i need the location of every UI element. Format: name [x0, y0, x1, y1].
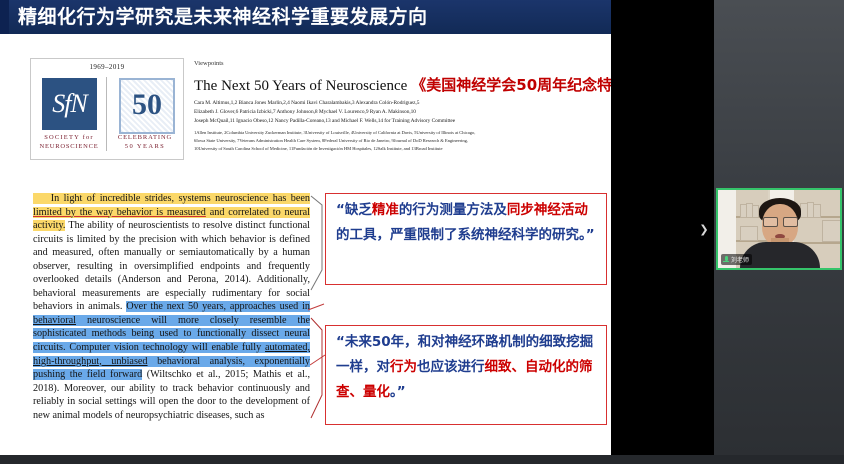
sfn-celebrating-line-1: CELEBRATING — [115, 134, 175, 141]
quote-accent-text: 行为 — [390, 359, 417, 375]
highlight-yellow-1: In light of incredible strides, systems … — [33, 193, 310, 231]
slide-title-bar: 精细化行为学研究是未来神经科学重要发展方向 — [0, 0, 611, 34]
quote-accent-text: 同步神经活动 — [507, 202, 588, 218]
article-title-row: The Next 50 Years of Neuroscience《美国神经学会… — [194, 74, 611, 95]
author-line-1: Cara M. Altimus,1,2 Bianca Jones Marlin,… — [194, 100, 419, 106]
quote-text: 的行为测量方法及 — [399, 202, 507, 218]
journal-header: 1969–2019 SfN SOCIETY for NEUROSCIENCE 5… — [30, 58, 600, 160]
article-body-paragraph: In light of incredible strides, systems … — [33, 192, 310, 422]
callout-quote-2: “未来50年，和对神经环路机制的细致挖掘一样，对行为也应该进行细致、自动化的筛查… — [325, 325, 607, 425]
book — [813, 204, 821, 218]
affiliation-line-2: 6Iowa State University, 7Veterans Admini… — [194, 138, 468, 143]
participant-name: 刘老师 — [731, 255, 749, 264]
sfn-society-line-1: SOCIETY for — [37, 134, 101, 141]
slide-title: 精细化行为学研究是未来神经科学重要发展方向 — [18, 3, 428, 31]
highlight-blue-1: Over the next 50 years, approaches used … — [33, 301, 310, 380]
book — [752, 205, 759, 218]
sfn-society-line-2: NEUROSCIENCE — [37, 143, 101, 150]
callout-quote-1: “缺乏精准的行为测量方法及同步神经活动的工具，严重限制了系统神经科学的研究。” — [325, 193, 607, 285]
window-bottom-strip — [0, 455, 844, 464]
glasses-icon — [763, 217, 797, 225]
participant-name-chip: 刘老师 — [721, 254, 752, 265]
presentation-slide[interactable]: 精细化行为学研究是未来神经科学重要发展方向 1969–2019 SfN SOCI… — [0, 0, 611, 455]
microphone-icon — [723, 256, 729, 264]
author-line-3: Joseph McQuail,11 Ignacio Obeso,12 Nancy… — [194, 118, 455, 124]
screen-share-region[interactable]: 精细化行为学研究是未来神经科学重要发展方向 1969–2019 SfN SOCI… — [0, 0, 714, 455]
affiliation-line-1: 1Allen Institute, 2Columbia University Z… — [194, 130, 475, 135]
quote-text: 的工具，严重限制了系统神经科学的研究。” — [336, 227, 595, 243]
sfn-anniversary-years: 1969–2019 — [31, 63, 183, 71]
sfn-logo: 1969–2019 SfN SOCIETY for NEUROSCIENCE 5… — [30, 58, 184, 160]
storage-box — [822, 220, 842, 242]
sfn-monogram-icon: SfN — [42, 78, 97, 130]
chevron-right-icon[interactable]: ❯ — [699, 222, 709, 238]
quote-text: 。” — [390, 384, 406, 400]
slide-title-accent-bar — [0, 0, 9, 34]
storage-box — [740, 226, 758, 241]
article-body-column: In light of incredible strides, systems … — [33, 192, 310, 422]
quote-accent-text: 精准 — [372, 202, 399, 218]
author-line-2: Elizabeth J. Glover,6 Patricia Izbicki,7… — [194, 109, 416, 115]
quote-text: “缺乏 — [336, 202, 372, 218]
participant-video-tile[interactable]: 刘老师 — [716, 188, 842, 270]
article-title-chinese-annotation: 《美国神经学会50周年纪念特刊》 — [411, 76, 611, 94]
quote-text: 也应该进行 — [417, 359, 485, 375]
sfn-celebrating-line-2: 50 YEARS — [115, 143, 175, 150]
sfn-50-badge-icon: 50 — [119, 78, 175, 134]
meeting-app-window: 精细化行为学研究是未来神经科学重要发展方向 1969–2019 SfN SOCI… — [0, 0, 844, 464]
article-title: The Next 50 Years of Neuroscience — [194, 78, 407, 94]
sfn-logo-divider — [106, 77, 107, 151]
affiliation-line-3: 10University of South Carolina School of… — [194, 146, 442, 151]
journal-section-label: Viewpoints — [194, 60, 224, 67]
